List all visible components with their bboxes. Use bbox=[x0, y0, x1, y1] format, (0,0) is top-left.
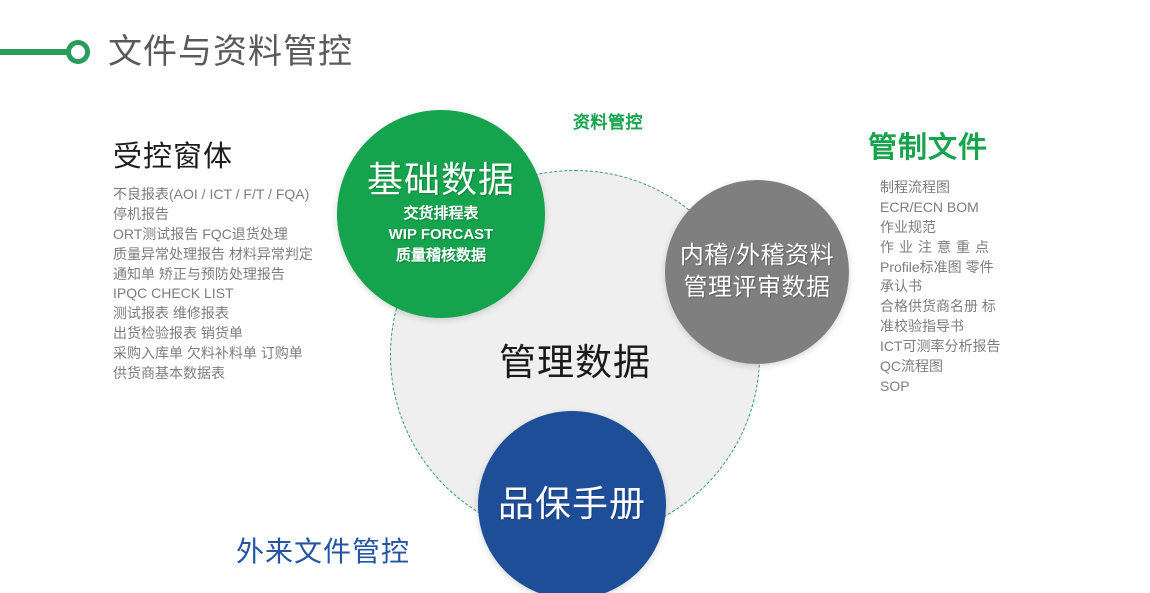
circle-basic-data-title: 基础数据 bbox=[367, 161, 515, 201]
external-document-control-label: 外来文件管控 bbox=[236, 530, 410, 570]
list-item: SOP bbox=[880, 377, 1040, 397]
list-item: 质量异常处理报告 材料异常判定 bbox=[113, 245, 343, 265]
list-item: 合格供货商名册 标 bbox=[880, 297, 1040, 317]
list-item: IPQC CHECK LIST bbox=[113, 284, 343, 304]
circle-basic-data[interactable]: 基础数据 交货排程表 WIP FORCAST 质量稽核数据 bbox=[337, 110, 545, 318]
venn-tag-label: 资料管控 bbox=[573, 108, 643, 133]
list-item: 测试报表 维修报表 bbox=[113, 304, 343, 324]
list-item: 承认书 bbox=[880, 277, 1040, 297]
slide-canvas: 文件与资料管控 管理数据 资料管控 基础数据 交货排程表 WIP FORCAST… bbox=[0, 0, 1150, 593]
list-item: ORT测试报告 FQC退货处理 bbox=[113, 225, 343, 245]
circle-basic-data-sub-line: WIP FORCAST bbox=[389, 224, 494, 245]
list-item: 准校验指导书 bbox=[880, 317, 1040, 337]
list-item: 供货商基本数据表 bbox=[113, 364, 343, 384]
list-item: ICT可测率分析报告 bbox=[880, 337, 1040, 357]
left-panel-heading: 受控窗体 bbox=[113, 133, 233, 175]
list-item: 采购入库单 欠料补料单 订购单 bbox=[113, 344, 343, 364]
list-item: QC流程图 bbox=[880, 357, 1040, 377]
list-item: 不良报表(AOI / ICT / F/T / FQA) bbox=[113, 185, 343, 205]
list-item: 通知单 矫正与预防处理报告 bbox=[113, 265, 343, 285]
left-panel-list: 不良报表(AOI / ICT / F/T / FQA) 停机报告 ORT测试报告… bbox=[113, 185, 343, 384]
header-accent-line bbox=[0, 49, 74, 55]
right-panel-heading: 管制文件 bbox=[868, 124, 988, 166]
circle-audit-data[interactable]: 内稽/外稽资料 管理评审数据 bbox=[665, 180, 849, 364]
list-item: 制程流程图 bbox=[880, 178, 1040, 198]
list-item: 出货检验报表 销货单 bbox=[113, 324, 343, 344]
circle-quality-manual-title: 品保手册 bbox=[498, 485, 646, 525]
circle-quality-manual[interactable]: 品保手册 bbox=[478, 411, 666, 593]
circle-audit-data-line: 内稽/外稽资料 bbox=[680, 240, 834, 272]
list-item: ECR/ECN BOM bbox=[880, 198, 1040, 218]
list-item: Profile标准图 零件 bbox=[880, 258, 1040, 278]
right-panel-list: 制程流程图 ECR/ECN BOM 作业规范 作业注意重点 Profile标准图… bbox=[880, 178, 1040, 397]
circle-basic-data-sub-line: 质量稽核数据 bbox=[389, 245, 494, 266]
page-title: 文件与资料管控 bbox=[108, 24, 353, 73]
circle-basic-data-sub-line: 交货排程表 bbox=[389, 203, 494, 224]
list-item: 停机报告 bbox=[113, 205, 343, 225]
ring-bullet-icon bbox=[66, 40, 90, 64]
circle-audit-data-line: 管理评审数据 bbox=[680, 272, 834, 304]
list-item: 作业注意重点 bbox=[880, 238, 1040, 258]
list-item: 作业规范 bbox=[880, 218, 1040, 238]
circle-basic-data-sub: 交货排程表 WIP FORCAST 质量稽核数据 bbox=[389, 203, 494, 267]
circle-audit-data-title: 内稽/外稽资料 管理评审数据 bbox=[680, 240, 834, 305]
